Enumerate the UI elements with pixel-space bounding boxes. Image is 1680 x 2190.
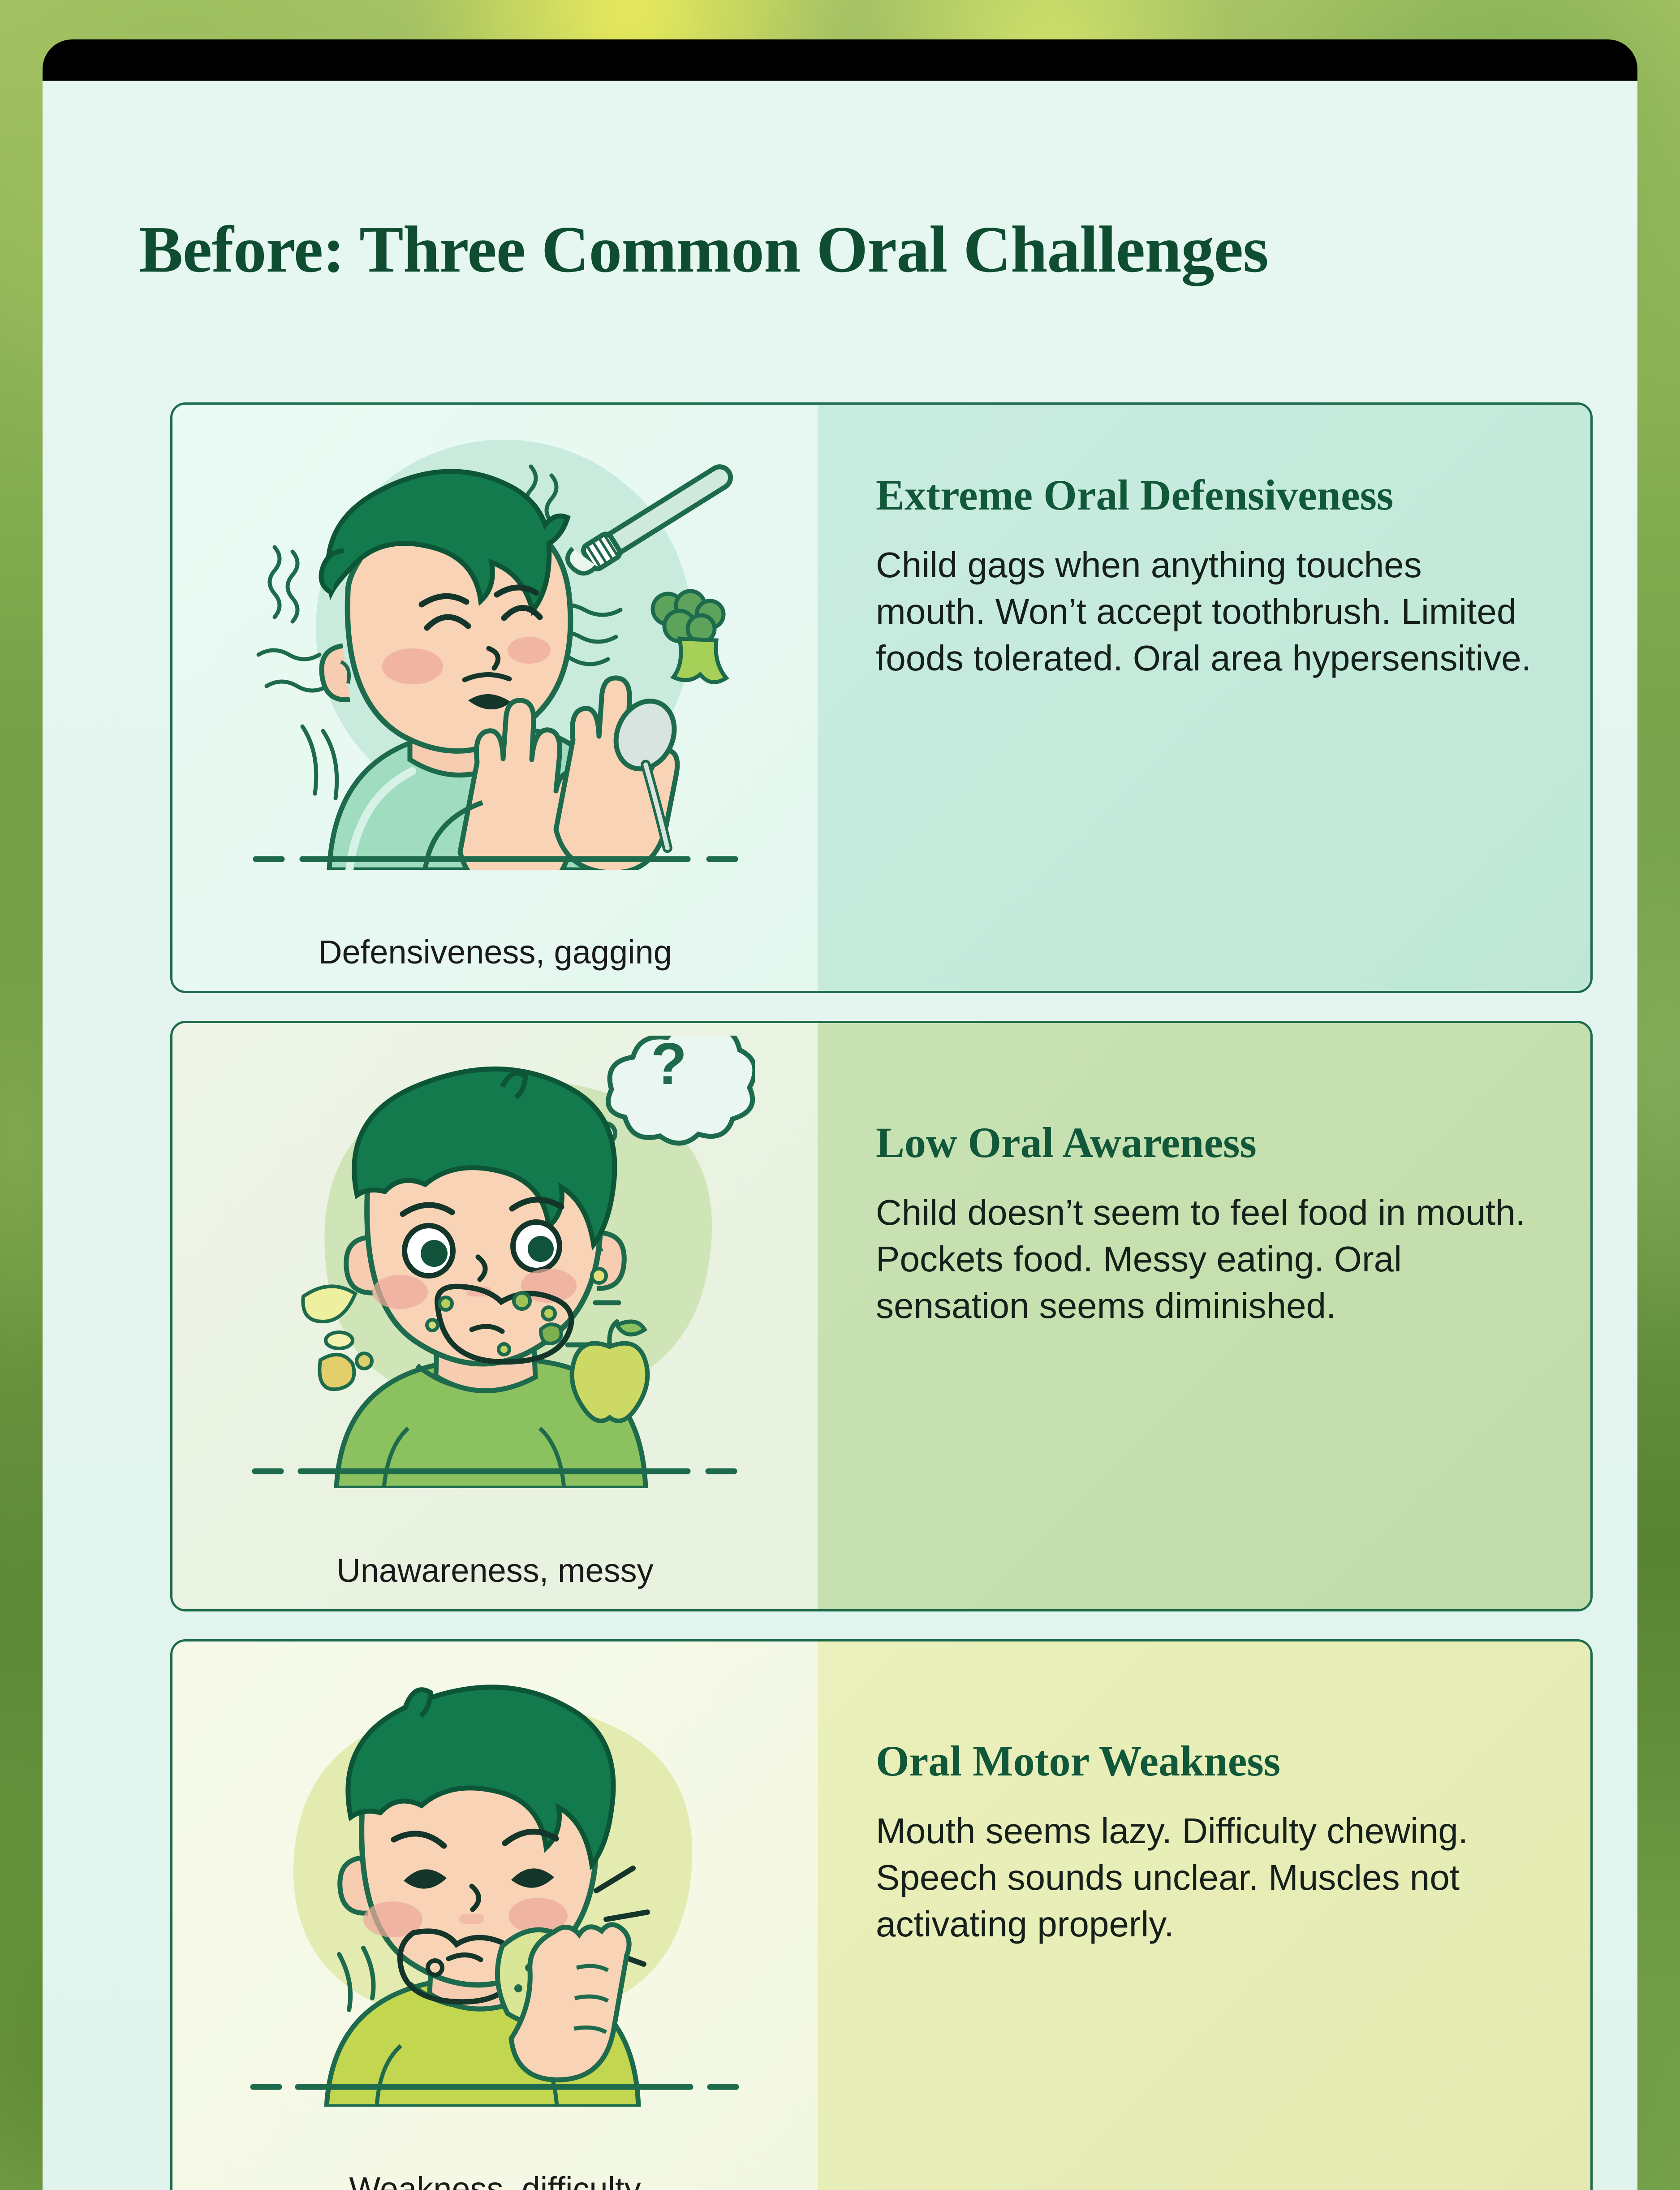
- illustration-caption: Defensiveness, gagging: [172, 933, 818, 971]
- challenge-heading: Low Oral Awareness: [876, 1119, 1537, 1166]
- child-low-awareness-illustration: ?: [235, 1036, 755, 1488]
- challenge-card[interactable]: Weakness, difficulty Oral Motor Weakness…: [170, 1639, 1593, 2190]
- challenge-card[interactable]: ?: [170, 1021, 1593, 1611]
- challenge-description: Child doesn’t seem to feel food in mouth…: [876, 1189, 1537, 1329]
- svg-text:?: ?: [651, 1036, 687, 1097]
- page-title: Before: Three Common Oral Challenges: [139, 215, 1564, 285]
- challenge-description: Child gags when anything touches mouth. …: [876, 542, 1537, 682]
- content-panel: Before: Three Common Oral Challenges: [43, 81, 1637, 2190]
- illustration-panel: ?: [172, 1023, 818, 1609]
- challenge-text-panel: Extreme Oral Defensiveness Child gags wh…: [818, 405, 1590, 991]
- challenge-text-panel: Low Oral Awareness Child doesn’t seem to…: [818, 1023, 1590, 1609]
- child-gagging-illustration: [235, 417, 755, 870]
- child-oral-motor-weakness-illustration: [235, 1654, 755, 2107]
- challenge-heading: Extreme Oral Defensiveness: [876, 472, 1537, 518]
- challenge-text-panel: Oral Motor Weakness Mouth seems lazy. Di…: [818, 1641, 1590, 2190]
- challenge-heading: Oral Motor Weakness: [876, 1738, 1537, 1784]
- illustration-caption: Unawareness, messy: [172, 1551, 818, 1590]
- illustration-panel: Weakness, difficulty: [172, 1641, 818, 2190]
- screen-panel-shell: Before: Three Common Oral Challenges: [43, 39, 1637, 2190]
- challenge-card[interactable]: Defensiveness, gagging Extreme Oral Defe…: [170, 402, 1593, 993]
- challenge-description: Mouth seems lazy. Difficulty chewing. Sp…: [876, 1808, 1537, 1948]
- illustration-caption: Weakness, difficulty: [172, 2170, 818, 2190]
- illustration-panel: Defensiveness, gagging: [172, 405, 818, 991]
